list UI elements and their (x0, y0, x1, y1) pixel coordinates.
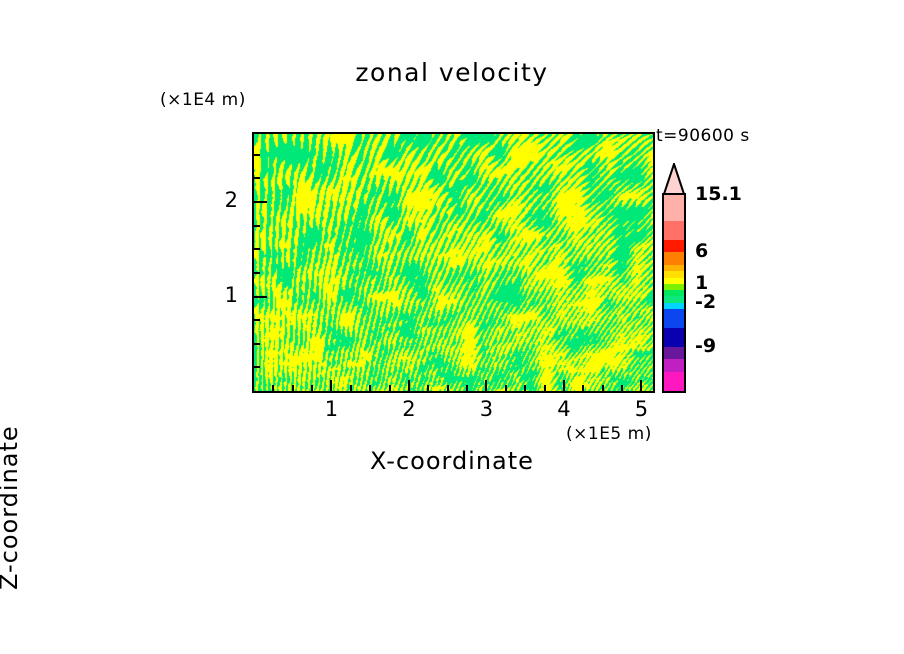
y-tick-minor (254, 366, 260, 368)
x-tick-minor (427, 385, 429, 391)
page-title: zonal velocity (0, 58, 904, 87)
colorbar-tick-label: -2 (695, 291, 716, 313)
x-tick-minor (350, 385, 352, 391)
x-tick-minor (505, 385, 507, 391)
x-tick-minor (621, 385, 623, 391)
plot-area (252, 132, 655, 393)
colorbar-tick-label: -9 (695, 335, 716, 357)
x-tick-minor (292, 385, 294, 391)
x-tick-label: 2 (389, 397, 429, 421)
colorbar-segment (664, 240, 684, 253)
colorbar-segment (664, 221, 684, 240)
x-tick-major (408, 380, 410, 391)
colorbar-segments (662, 193, 686, 393)
x-axis-unit-label: (×1E5 m) (566, 424, 652, 444)
colorbar-segment (664, 347, 684, 360)
x-tick-minor (544, 385, 546, 391)
colorbar-tick-label: 6 (695, 240, 708, 262)
x-tick-label: 4 (544, 397, 584, 421)
y-tick-minor (254, 319, 260, 321)
y-tick-minor (254, 154, 260, 156)
y-tick-minor (254, 343, 260, 345)
x-tick-label: 3 (466, 397, 506, 421)
y-tick-minor (254, 272, 260, 274)
y-tick-minor (254, 225, 260, 227)
y-tick-minor (254, 177, 260, 179)
time-annotation: t=90600 s (656, 126, 750, 146)
x-tick-label: 5 (621, 397, 661, 421)
x-tick-major (640, 380, 642, 391)
x-tick-minor (311, 385, 313, 391)
y-axis-unit-label: (×1E4 m) (160, 90, 246, 110)
y-axis-title: Z-coordinate (0, 160, 23, 590)
x-tick-major (563, 380, 565, 391)
colorbar-extend-arrow-icon (662, 163, 686, 195)
x-tick-major (330, 380, 332, 391)
x-tick-label: 1 (311, 397, 351, 421)
y-tick-major (254, 296, 267, 298)
x-tick-minor (466, 385, 468, 391)
x-tick-minor (272, 385, 274, 391)
colorbar-segment (664, 359, 684, 372)
y-tick-label: 2 (212, 188, 238, 212)
colorbar-segment (664, 372, 684, 391)
x-tick-minor (389, 385, 391, 391)
colorbar-segment (664, 252, 684, 265)
y-tick-major (254, 201, 267, 203)
heatmap-field (254, 134, 653, 391)
x-tick-minor (582, 385, 584, 391)
y-tick-label: 1 (212, 283, 238, 307)
x-tick-minor (447, 385, 449, 391)
x-tick-minor (602, 385, 604, 391)
colorbar-tick-label: 15.1 (695, 183, 742, 205)
x-tick-major (485, 380, 487, 391)
y-tick-minor (254, 248, 260, 250)
x-tick-minor (524, 385, 526, 391)
x-tick-minor (369, 385, 371, 391)
colorbar-segment (664, 309, 684, 328)
x-axis-title: X-coordinate (0, 447, 904, 475)
colorbar-segment (664, 328, 684, 347)
colorbar-segment (664, 195, 684, 221)
